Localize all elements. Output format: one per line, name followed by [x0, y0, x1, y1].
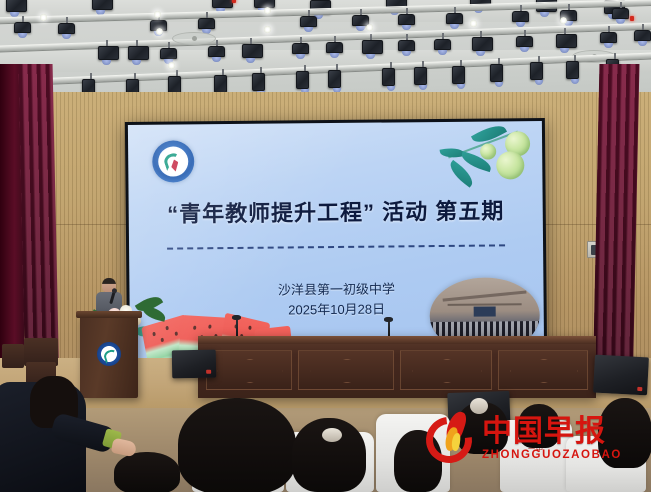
stage-light-icon: [600, 26, 617, 48]
stage-light-icon: [292, 37, 309, 59]
stage-light-icon: [326, 36, 343, 58]
stage-light-icon: [92, 0, 109, 15]
ceiling-spot-icon: [40, 14, 47, 21]
stage-light-icon: [398, 8, 415, 30]
stage-light-icon: [612, 2, 629, 24]
watermark-chinese: 中国早报: [482, 417, 622, 447]
stage-light-icon: [198, 12, 215, 34]
stage-light-icon: [6, 0, 23, 17]
stage-light-icon: [446, 7, 463, 29]
stage-light-icon: [398, 34, 415, 56]
slide-divider: [167, 244, 505, 249]
stage-light-icon: [434, 33, 451, 55]
fruit-decoration-icon: [440, 125, 537, 200]
stage-light-icon: [472, 31, 489, 56]
stage-light-icon: [566, 55, 583, 84]
stage-light-icon: [382, 62, 399, 91]
slide-title: “青年教师提升工程” 活动 第五期: [129, 193, 543, 229]
ceiling-spot-icon: [154, 11, 161, 18]
ceiling-spot-icon: [156, 28, 163, 35]
stage-light-icon: [634, 24, 651, 46]
stage-light-icon: [296, 65, 313, 94]
auditorium-photo: “青年教师提升工程” 活动 第五期 沙洋县第一初级中学 2025年10月28日: [0, 0, 651, 492]
hair-clip-icon: [322, 428, 342, 442]
stage-light-icon: [414, 61, 431, 90]
stage-light-icon: [58, 17, 75, 39]
ceiling-spot-icon: [264, 7, 271, 14]
ceiling-spot-icon: [470, 20, 477, 27]
stage-light-icon: [530, 56, 547, 85]
stage-light-icon: [128, 40, 145, 65]
stage-light-icon: [512, 5, 529, 27]
watermark: 中国早报 ZHONGGUOZAOBAO: [424, 408, 642, 470]
indicator-light-icon: [630, 16, 634, 21]
floor-monitor-speaker: [593, 355, 649, 396]
stage-light-icon: [516, 30, 533, 52]
stage-light-icon: [242, 38, 259, 63]
indicator-light-icon: [232, 0, 236, 3]
presentation-slide: “青年教师提升工程” 活动 第五期 沙洋县第一初级中学 2025年10月28日: [128, 121, 544, 359]
stage-chair: [2, 344, 24, 368]
ceiling-spot-icon: [560, 17, 567, 24]
floor-monitor-speaker: [172, 350, 216, 379]
speaker-podium: [80, 316, 138, 398]
stage-light-icon: [556, 28, 573, 53]
stage-light-icon: [452, 60, 469, 89]
table-microphone-stand: [236, 318, 238, 338]
ceiling-spot-icon: [264, 26, 271, 33]
projection-screen: “青年教师提升工程” 活动 第五期 沙洋县第一初级中学 2025年10月28日: [125, 118, 547, 362]
school-emblem-logo: [152, 140, 194, 182]
audience-head: [178, 398, 296, 492]
school-emblem-podium: [97, 342, 121, 366]
stage-light-icon: [300, 10, 317, 32]
watermark-pinyin: ZHONGGUOZAOBAO: [482, 450, 622, 462]
audience-head: [114, 452, 180, 492]
watermark-text: 中国早报 ZHONGGUOZAOBAO: [482, 417, 622, 462]
stage-light-icon: [362, 34, 379, 59]
flame-logo-icon: [424, 413, 476, 465]
table-microphone-icon: [384, 317, 393, 322]
stage-light-icon: [160, 42, 177, 64]
stage-light-icon: [490, 58, 507, 87]
stage-light-icon: [208, 40, 225, 62]
table-microphone-icon: [232, 315, 241, 320]
stage-light-icon: [328, 64, 345, 93]
stage-curtain-right: [593, 64, 640, 394]
stage-light-icon: [98, 40, 115, 65]
ceiling-spot-icon: [366, 24, 373, 31]
stage-light-icon: [14, 16, 31, 38]
stage-panel-table: [198, 336, 596, 398]
ceiling-spot-icon: [168, 62, 175, 69]
